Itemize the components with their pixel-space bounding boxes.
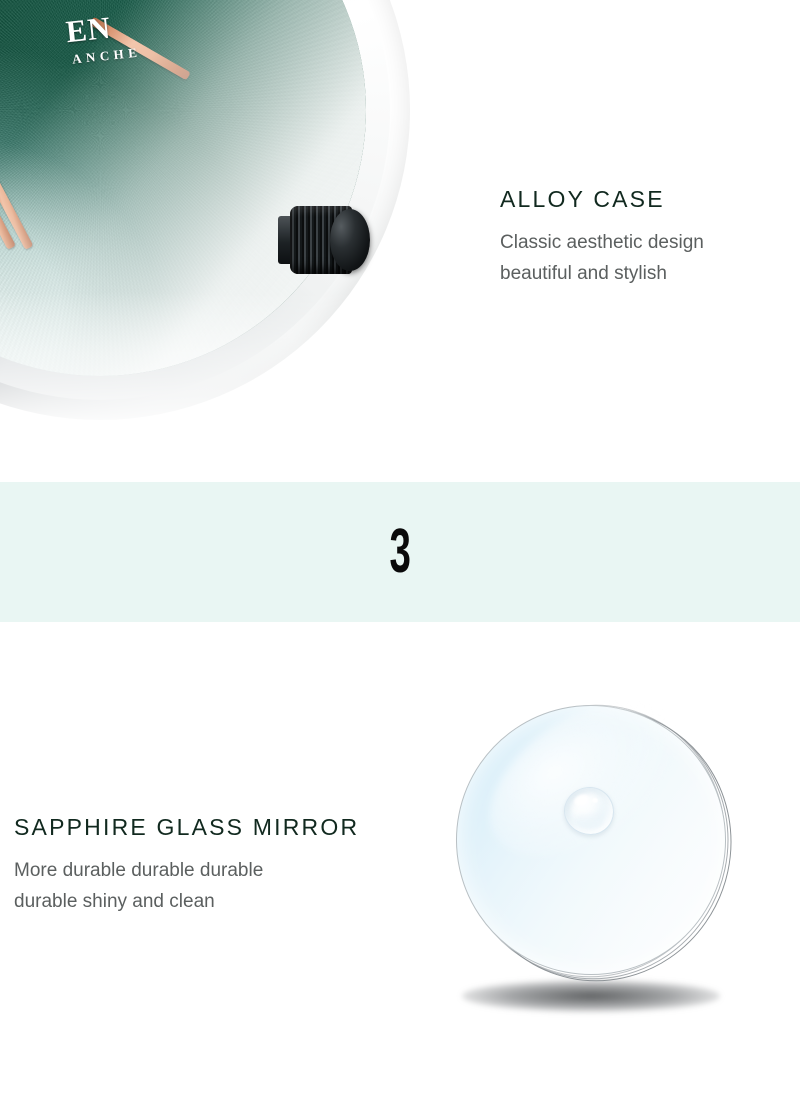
section-alloy-case: EN ANCHE ALLOY CASE Classic aesthetic de… [0,0,800,482]
section-number-banner: 3 [0,482,800,622]
alloy-case-text-block: ALLOY CASE Classic aesthetic design beau… [500,186,704,290]
sapphire-glass-text-block: SAPPHIRE GLASS MIRROR More durable durab… [14,814,359,918]
section-sapphire-glass: SAPPHIRE GLASS MIRROR More durable durab… [0,622,800,1104]
sapphire-glass-photo [452,702,782,1032]
sapphire-glass-description-line-2: durable shiny and clean [14,886,359,917]
droplet-inner-shade [576,812,603,828]
droplet-highlight-small [592,798,598,803]
sapphire-glass-description: More durable durable durable durable shi… [14,841,359,918]
alloy-case-description-line-1: Classic aesthetic design [500,227,704,258]
photo-white-fade [0,292,800,482]
alloy-case-title: ALLOY CASE [500,186,704,213]
sapphire-glass-description-line-1: More durable durable durable [14,855,359,886]
alloy-case-description: Classic aesthetic design beautiful and s… [500,213,704,290]
droplet-highlight [573,793,591,808]
water-droplet-icon [564,787,614,835]
glass-drop-shadow [462,980,720,1012]
alloy-case-description-line-2: beautiful and stylish [500,258,704,289]
watch-crown [290,204,376,276]
product-feature-page: EN ANCHE ALLOY CASE Classic aesthetic de… [0,0,800,1104]
sapphire-glass-title: SAPPHIRE GLASS MIRROR [14,814,359,841]
crown-cap [330,209,370,271]
banner-step-number: 3 [389,521,410,583]
